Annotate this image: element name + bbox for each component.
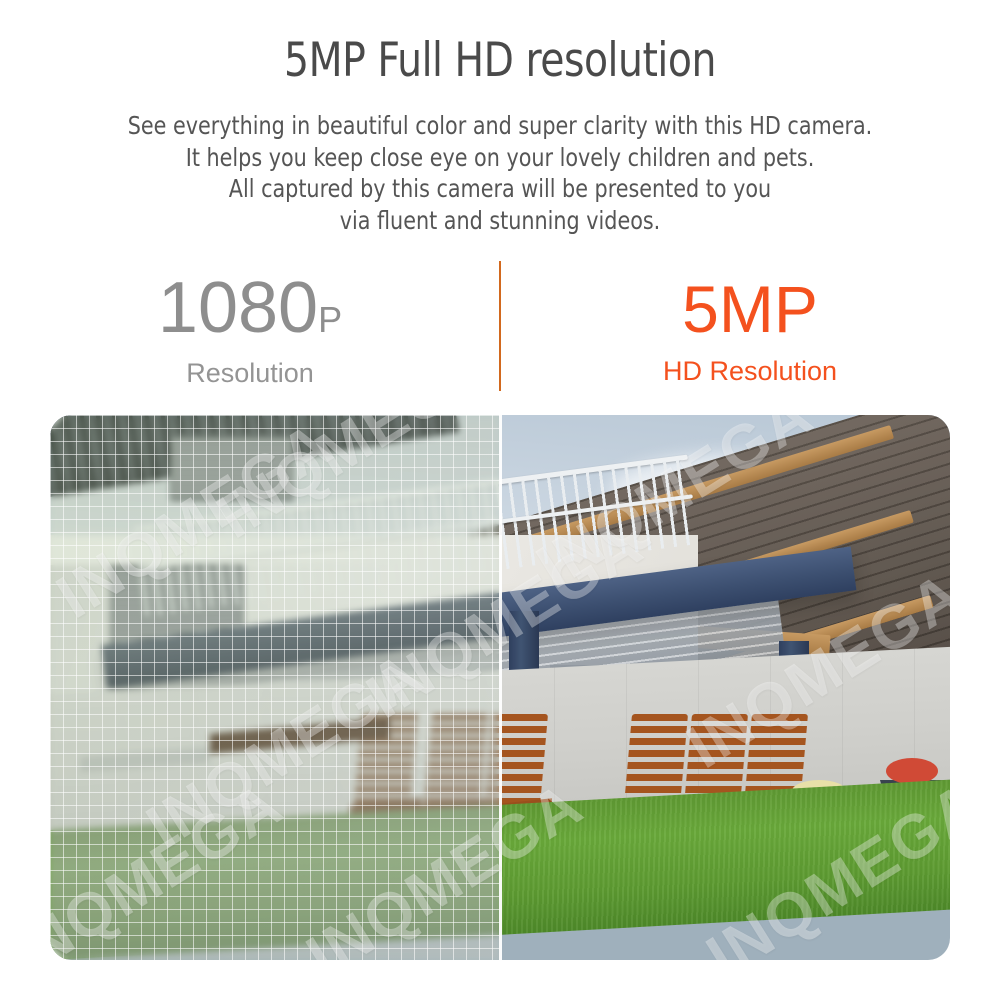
- photo-half-sharp: [500, 415, 950, 960]
- stone-bench: [80, 747, 210, 772]
- description-line-1: See everything in beautiful color and su…: [30, 110, 970, 142]
- chair-back: [500, 714, 548, 806]
- scene-sharp: [500, 415, 950, 960]
- product-feature-panel: 5MP Full HD resolution See everything in…: [0, 0, 1000, 1000]
- description-block: See everything in beautiful color and su…: [30, 110, 970, 236]
- resolution-comparison: 1080P Resolution 5MP HD Resolution: [0, 258, 1000, 393]
- resolution-caption-1080p: Resolution: [20, 356, 480, 390]
- description-line-4: via fluent and stunning videos.: [30, 205, 970, 237]
- photo-half-lowres: [50, 415, 500, 960]
- resolution-value-1080p: 1080P: [20, 258, 480, 344]
- chair-back: [424, 714, 488, 806]
- resolution-caption-5mp: HD Resolution: [520, 354, 980, 388]
- resolution-value-5mp: 5MP: [520, 258, 980, 342]
- comparison-column-5mp: 5MP HD Resolution: [520, 258, 980, 388]
- lawn: [500, 780, 950, 960]
- chair-back: [484, 714, 500, 806]
- page-title: 5MP Full HD resolution: [35, 32, 965, 90]
- comparison-photo: INQMEGA INQMEGA INQMEGA INQMEGA INQMEGA …: [50, 415, 950, 960]
- comparison-column-1080p: 1080P Resolution: [20, 258, 480, 390]
- chair-back: [624, 714, 688, 806]
- resolution-number: 1080: [158, 268, 318, 348]
- louvered-window: [170, 435, 294, 501]
- resolution-suffix: P: [318, 299, 342, 340]
- description-line-2: It helps you keep close eye on your love…: [30, 142, 970, 174]
- description-line-3: All captured by this camera will be pres…: [30, 173, 970, 205]
- scene-lowres: [50, 415, 500, 960]
- photo-split-line: [499, 415, 502, 960]
- comparison-divider: [499, 261, 501, 391]
